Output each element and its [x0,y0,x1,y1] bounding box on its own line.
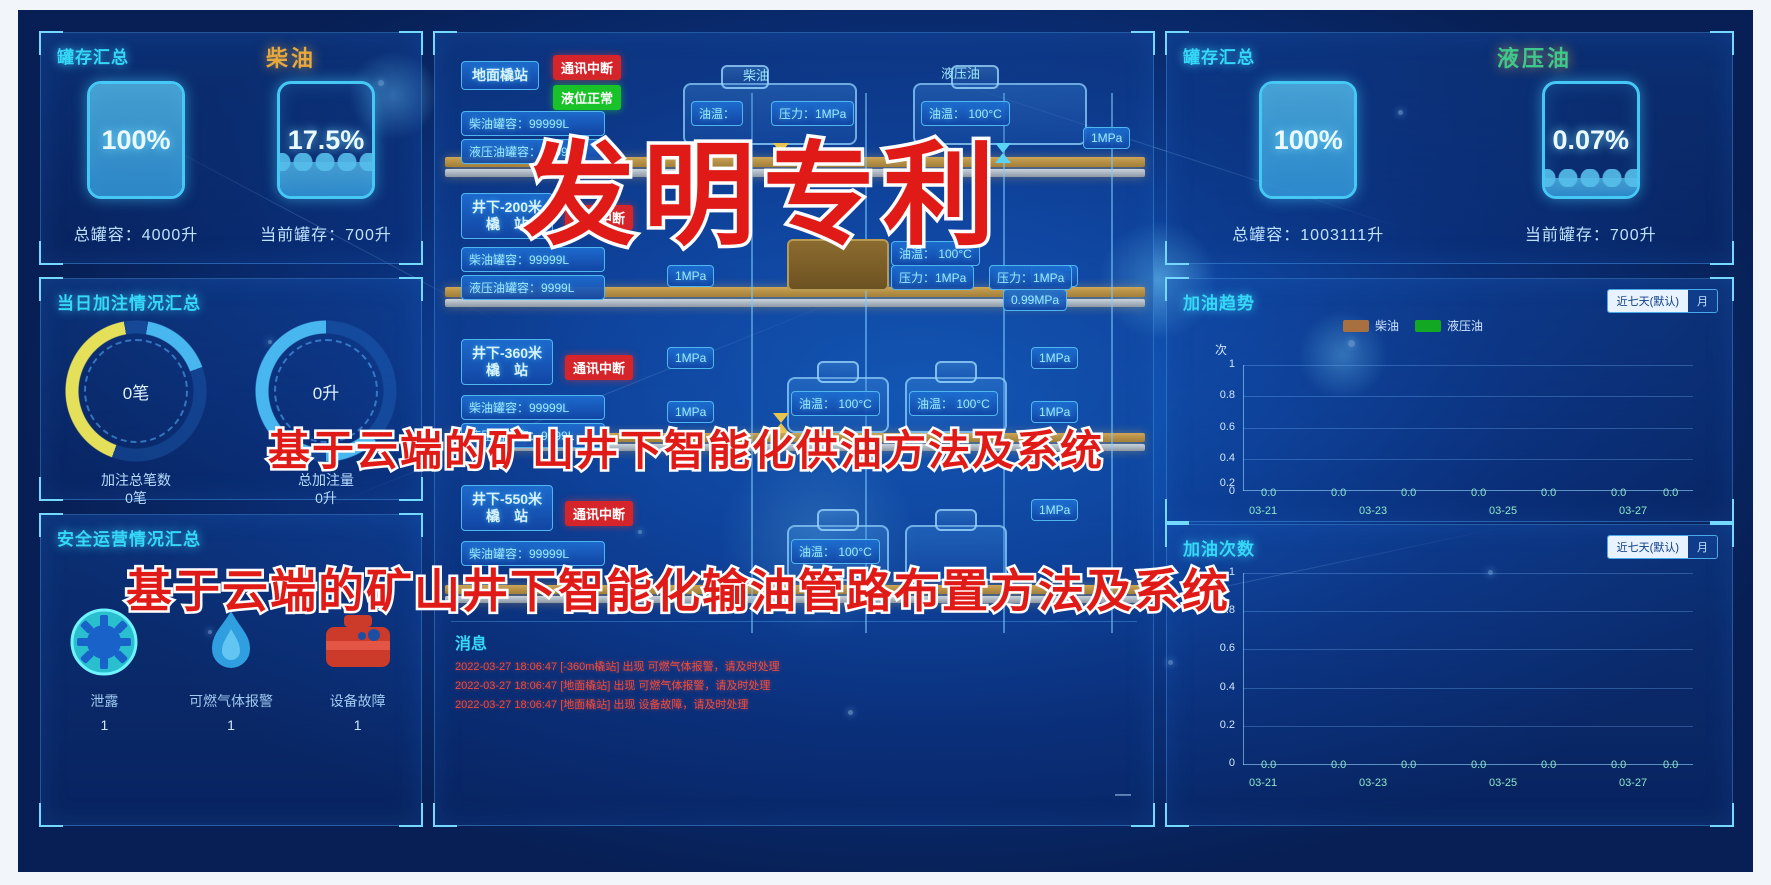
count-point-label: 0.0 [1331,759,1346,771]
message-panel-title: 消息 [455,630,487,654]
trend-range-option-week[interactable]: 近七天(默认) [1608,290,1688,312]
legend-label-diesel: 柴油 [1375,317,1399,334]
trend-chart-title: 加油趋势 [1183,289,1255,314]
count-xtick: 03-25 [1489,777,1517,789]
tank-symbol-550-b [935,509,977,531]
tank-percent-total-right: 100% [1262,84,1354,196]
trend-xtick: 03-21 [1249,505,1277,517]
safety-value-leak: 1 [100,717,108,733]
count-ytick-06: 0.6 [1209,642,1235,654]
station-line-2: 橇 站 [472,362,542,379]
trend-xtick: 03-23 [1359,505,1387,517]
trend-ytick-04: 0.4 [1209,452,1235,464]
tank-gauge-current: 17.5% [277,81,375,199]
count-point-label: 0.0 [1471,759,1486,771]
legend-item-hydraulic[interactable]: 液压油 [1415,317,1483,334]
tank-label-current: 当前罐存：700升 [260,221,392,245]
message-panel: 消息 2022-03-27 18:06:47 [-360m橇站] 出现 可燃气体… [451,621,1137,808]
watermark-line-2: 基于云端的矿山井下智能化输油管路布置方法及系统 [126,555,1230,621]
station-badge-comm-550: 通讯中断 [565,501,633,526]
right-tank-card-current: 0.07% 当前罐存：700升 [1450,81,1733,245]
tank-label-total-right: 总罐容：1003111升 [1232,221,1384,245]
legend-label-hydraulic: 液压油 [1447,317,1483,334]
message-row: 2022-03-27 18:06:47 [-360m橇站] 出现 可燃气体报警，… [455,658,1133,677]
tank-symbol-360-a [817,361,859,383]
left-oil-type: 柴油 [266,41,316,73]
right-tank-panel: 罐存汇总 液压油 100% 总罐容：1003111升 0.07% 当前罐存：70… [1166,32,1733,264]
trend-ytick-1: 1 [1209,358,1235,370]
trend-xtick: 03-25 [1489,505,1517,517]
mpa-tag-5: 1MPa [1031,347,1078,369]
reading-press-200: 压力：1MPa [891,265,974,290]
trend-xtick: 03-27 [1619,505,1647,517]
reading-press-200b: 压力：1MPa [989,265,1072,290]
left-tank-card-current: 17.5% 当前罐存：700升 [231,81,421,245]
right-oil-type: 液压油 [1497,41,1572,73]
count-ytick-04: 0.4 [1209,681,1235,693]
station-badge-comm-surface: 通讯中断 [553,55,621,80]
safety-value-gas: 1 [227,717,235,733]
tank-symbol-550-a [817,509,859,531]
trend-point-label: 0.0 [1261,487,1276,499]
trend-ytick-08: 0.8 [1209,389,1235,401]
watermark-line-1: 基于云端的矿山井下智能化供油方法及系统 [268,417,1104,478]
trend-point-label: 0.0 [1401,487,1416,499]
trend-y-unit: 次 [1215,341,1227,358]
tank-gauge-total-right: 100% [1259,81,1357,199]
safety-item-leak: 泄露 1 [41,605,168,733]
right-tank-panel-title: 罐存汇总 [1183,43,1255,68]
gauge-card-volume: 0升 总加注量 0升 [231,317,421,507]
count-ytick-02: 0.2 [1209,719,1235,731]
count-point-label: 0.0 [1261,759,1276,771]
trend-legend: 柴油 液压油 [1343,317,1483,334]
tank-gauge-current-right: 0.07% [1542,81,1640,199]
safety-label-leak: 泄露 [90,691,118,711]
safety-item-fault: 设备故障 1 [294,605,421,733]
station-badge-comm-360: 通讯中断 [565,355,633,380]
tank-percent-current: 17.5% [280,84,372,196]
label-hyd-surface: 液压油 [941,63,980,82]
left-tank-panel-title: 罐存汇总 [57,43,129,68]
trend-ytick-0: 0 [1209,485,1235,497]
left-tank-panel: 罐存汇总 柴油 100% 总罐容：4000升 17.5% 当前罐存：700升 [40,32,422,264]
station-line-2: 橇 站 [472,508,542,525]
safety-label-gas: 可燃气体报警 [189,691,273,711]
station-line-1: 井下-550米 [472,491,542,508]
count-point-label: 0.0 [1611,759,1626,771]
message-row: 2022-03-27 18:06:47 [地面橇站] 出现 设备故障，请及时处理 [455,696,1133,715]
right-tank-card-total: 100% 总罐容：1003111升 [1167,81,1450,245]
tank-percent-current-right: 0.07% [1545,84,1637,196]
reading-temp-360a: 油温： 100°C [791,391,880,416]
count-range-option-week[interactable]: 近七天(默认) [1608,536,1688,558]
reading-temp-360b: 油温： 100°C [909,391,998,416]
mpa-tag-1: 1MPa [1083,127,1130,149]
station-chip-hyd-200: 液压油罐容：9999L [461,275,605,300]
refuel-trend-panel: 加油趋势 近七天(默认) 月 柴油 液压油 次 [1166,278,1733,522]
trend-range-selector[interactable]: 近七天(默认) 月 [1607,289,1718,313]
count-range-selector[interactable]: 近七天(默认) 月 [1607,535,1718,559]
gauge-card-count: 0笔 加注总笔数 0笔 [41,317,231,507]
tank-label-total: 总罐容：4000升 [74,221,199,245]
gauge-label-count: 加注总笔数 0笔 [101,471,171,507]
safety-panel-title: 安全运营情况汇总 [57,525,201,550]
mpa-tag-8: 1MPa [1031,499,1078,521]
tank-label-current-right: 当前罐存：700升 [1525,221,1657,245]
count-range-option-month[interactable]: 月 [1688,536,1717,558]
mpa-tag-2: 1MPa [667,265,714,287]
count-point-label: 0.0 [1541,759,1556,771]
trend-ytick-06: 0.6 [1209,421,1235,433]
trend-point-label: 0.0 [1541,487,1556,499]
gauge-value-count: 0笔 [62,317,210,465]
watermark-title: 发明专利 [523,105,1003,267]
count-xtick: 03-21 [1249,777,1277,789]
safety-item-gas: 可燃气体报警 1 [168,605,295,733]
station-line-1: 井下-360米 [472,345,542,362]
minimize-icon[interactable]: — [1115,786,1131,804]
tank-percent-total: 100% [90,84,182,196]
count-point-label: 0.0 [1401,759,1416,771]
count-xtick: 03-27 [1619,777,1647,789]
safety-value-fault: 1 [354,717,362,733]
message-list[interactable]: 2022-03-27 18:06:47 [-360m橇站] 出现 可燃气体报警，… [455,658,1133,715]
station-label-550[interactable]: 井下-550米 橇 站 [461,485,553,531]
legend-swatch-diesel [1343,320,1369,332]
label-diesel-surface: 柴油 [743,65,769,84]
count-xtick: 03-23 [1359,777,1387,789]
count-ytick-0: 0 [1209,757,1235,769]
station-label-360[interactable]: 井下-360米 橇 站 [461,339,553,385]
dashboard-screen: 罐存汇总 柴油 100% 总罐容：4000升 17.5% 当前罐存：700升 [18,10,1753,872]
legend-swatch-hydraulic [1415,320,1441,332]
message-row: 2022-03-27 18:06:47 [地面橇站] 出现 可燃气体报警，请及时… [455,677,1133,696]
trend-point-label: 0.0 [1611,487,1626,499]
refuel-count-panel: 加油次数 近七天(默认) 月 1 0.8 0.6 0.4 0.2 0 0.0 [1166,524,1733,826]
dashboard-root: 罐存汇总 柴油 100% 总罐容：4000升 17.5% 当前罐存：700升 [0,0,1771,885]
reading-press-200c: 0.99MPa [1003,289,1067,311]
trend-point-label: 0.0 [1663,487,1678,499]
safety-label-fault: 设备故障 [330,691,386,711]
trend-point-label: 0.0 [1331,487,1346,499]
count-plot-area: 1 0.8 0.6 0.4 0.2 0 0.0 0.0 0.0 0.0 0.0 … [1243,573,1693,765]
tank-gauge-total: 100% [87,81,185,199]
mpa-tag-4: 1MPa [667,347,714,369]
ring-gauge-count: 0笔 [62,317,210,465]
station-label-surface[interactable]: 地面橇站 [461,61,539,90]
refuel-panel-title: 当日加注情况汇总 [57,289,201,314]
trend-point-label: 0.0 [1471,487,1486,499]
tank-symbol-360-b [935,361,977,383]
legend-item-diesel[interactable]: 柴油 [1343,317,1399,334]
left-tank-card-total: 100% 总罐容：4000升 [41,81,231,245]
trend-plot-area: 1 0.8 0.6 0.4 0.2 0 0.0 0.0 0.0 0.0 0.0 … [1243,365,1693,491]
trend-range-option-month[interactable]: 月 [1688,290,1717,312]
count-point-label: 0.0 [1663,759,1678,771]
